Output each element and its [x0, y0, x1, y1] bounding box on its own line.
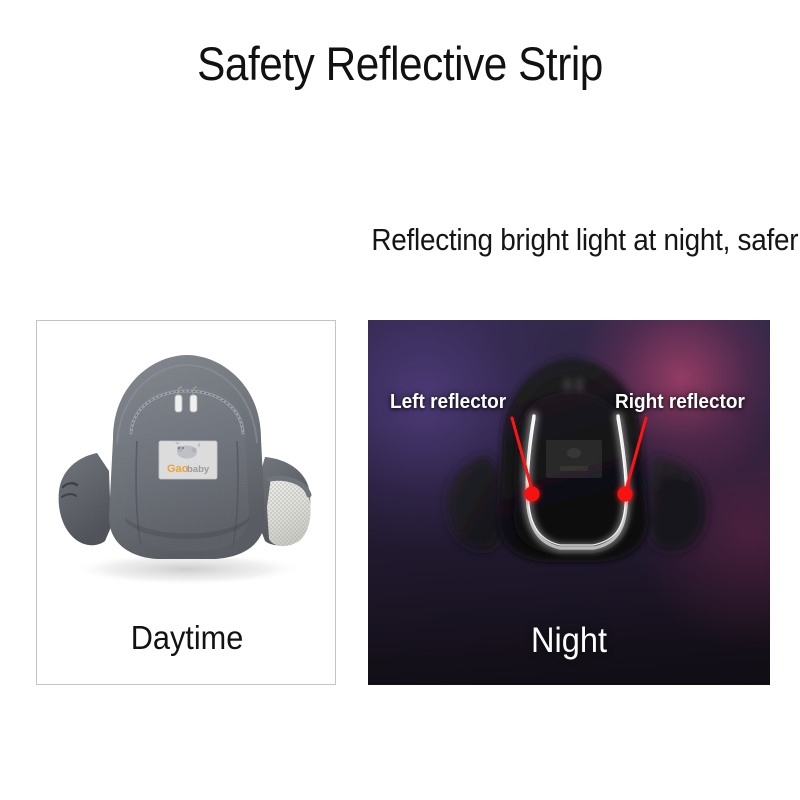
- daytime-caption: Daytime: [48, 618, 327, 658]
- left-reflector-label: Left reflector: [390, 389, 506, 415]
- brand-logo-patch: Gao baby: [159, 441, 217, 479]
- night-panel: Left reflector Right reflector Night: [368, 320, 770, 685]
- page-title: Safety Reflective Strip: [40, 36, 760, 92]
- right-callout-dot: [617, 486, 632, 501]
- left-side-strap-night: [448, 455, 502, 550]
- daytime-panel: Gao baby Daytime: [36, 320, 336, 685]
- svg-text:Gao: Gao: [167, 463, 189, 475]
- left-callout-dot: [524, 486, 539, 501]
- brand-logo-patch-night: [546, 440, 602, 478]
- page-subtitle: Reflecting bright light at night, safer: [371, 220, 798, 260]
- night-caption: Night: [382, 619, 756, 663]
- right-reflector-label: Right reflector: [615, 389, 745, 415]
- svg-text:baby: baby: [187, 464, 210, 475]
- marketing-image-canvas: Safety Reflective Strip Reflecting brigh…: [0, 0, 800, 800]
